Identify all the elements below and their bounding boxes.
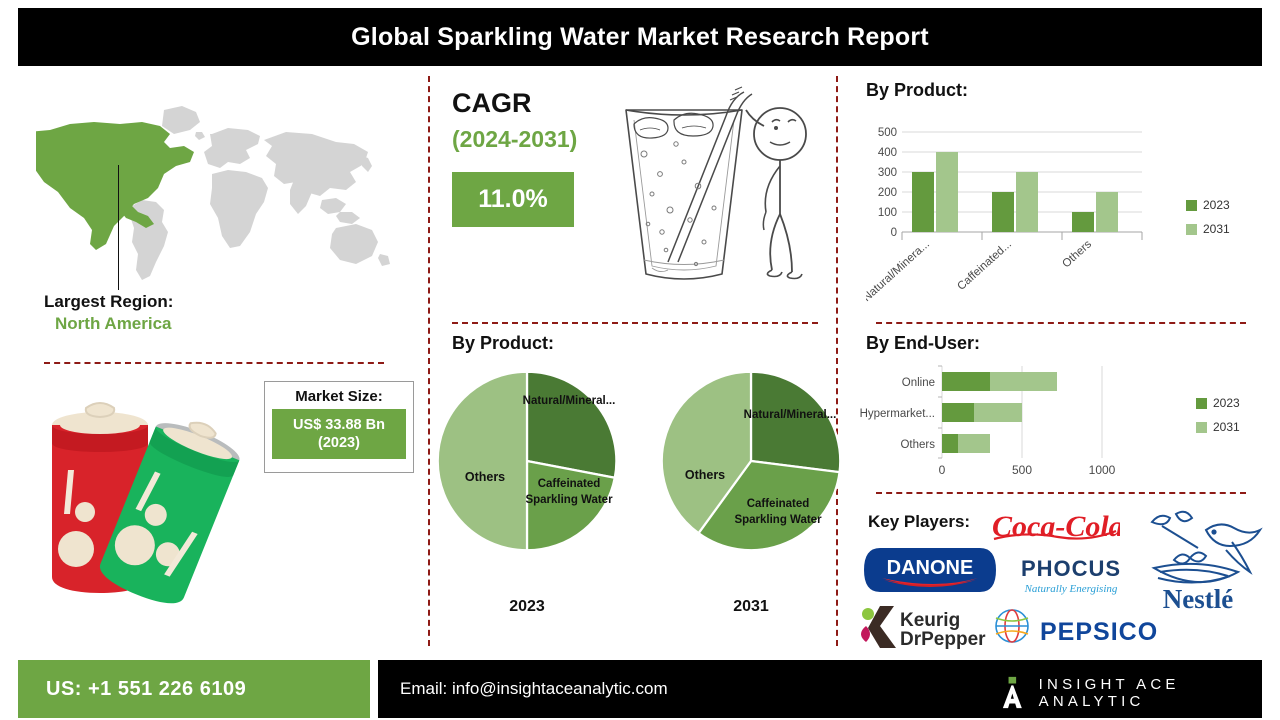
svg-text:400: 400: [878, 147, 897, 159]
logo-danone: DANONE: [864, 544, 996, 601]
pie-2023-label-caffeinated: Caffeinated Sparkling Water: [523, 477, 615, 508]
logo-nestle: Nestlé: [1128, 508, 1268, 619]
footer-phone-block: US: +1 551 226 6109: [18, 660, 370, 718]
divider-center-1: [452, 322, 818, 324]
legend-swatch-2031: [1186, 224, 1197, 235]
soda-cans-illustration: [28, 392, 258, 627]
center-by-product-title: By Product:: [452, 333, 554, 354]
footer-brand: INSIGHT ACE ANALYTIC: [1000, 676, 1280, 710]
logo-keurig-dr-pepper: Keurig DrPepper: [860, 604, 1000, 655]
svg-text:0: 0: [891, 227, 897, 239]
footer-email: Email: info@insightaceanalytic.com: [400, 679, 668, 699]
svg-text:Others: Others: [900, 439, 935, 451]
svg-text:500: 500: [878, 127, 897, 139]
by-end-user-title: By End-User:: [866, 333, 980, 354]
svg-text:Natural/Minera...: Natural/Minera...: [866, 238, 932, 304]
svg-text:Hypermarket...: Hypermarket...: [860, 408, 935, 420]
largest-region-label: Largest Region:: [44, 292, 173, 312]
pie-2023-label-others: Others: [452, 469, 518, 486]
logo-phocus-text: PHOCUS: [1021, 556, 1121, 581]
legend-label-2023-enduser: 2023: [1213, 396, 1240, 410]
market-size-box: Market Size: US$ 33.88 Bn (2023): [264, 381, 414, 473]
market-size-title: Market Size:: [295, 388, 383, 405]
logo-pepsico: PEPSICO: [990, 608, 1170, 657]
legend-label-2023: 2023: [1203, 198, 1230, 212]
logo-pepsico-text: PEPSICO: [1040, 618, 1158, 646]
pie-2023-year: 2023: [434, 598, 620, 616]
footer-phone: US: +1 551 226 6109: [46, 678, 246, 701]
by-end-user-legend: 2023 2031: [1196, 396, 1240, 444]
svg-text:500: 500: [1012, 463, 1032, 477]
svg-text:Others: Others: [1060, 238, 1094, 270]
pie-2031-year: 2031: [658, 598, 844, 616]
cagr-years: (2024-2031): [452, 126, 577, 153]
pie-2023-label-natural: Natural/Mineral...: [521, 394, 617, 410]
header-bar: Global Sparkling Water Market Research R…: [18, 8, 1262, 66]
footer-brand-text: INSIGHT ACE ANALYTIC: [1039, 676, 1280, 710]
key-players-logos: Coca-Cola DANONE: [860, 500, 1270, 650]
page-title: Global Sparkling Water Market Research R…: [351, 23, 929, 52]
legend-swatch-2023: [1186, 200, 1197, 211]
legend-swatch-2031-enduser: [1196, 422, 1207, 433]
legend-label-2031: 2031: [1203, 222, 1230, 236]
drinking-glass-illustration: [604, 82, 824, 292]
logo-danone-text: DANONE: [887, 557, 974, 579]
infographic-page: Global Sparkling Water Market Research R…: [0, 0, 1280, 720]
legend-swatch-2023-enduser: [1196, 398, 1207, 409]
cagr-label: CAGR: [452, 88, 532, 119]
market-size-value: US$ 33.88 Bn: [293, 416, 385, 434]
pie-2031-label-caffeinated: Caffeinated Sparkling Water: [732, 497, 824, 528]
divider-left-1: [44, 362, 384, 364]
by-product-legend: 2023 2031: [1186, 198, 1230, 246]
map-pointer-line: [118, 165, 119, 290]
logo-keurig-text: Keurig: [900, 610, 960, 631]
market-size-year: (2023): [318, 434, 360, 452]
svg-text:100: 100: [878, 207, 897, 219]
divider-right-2: [876, 492, 1246, 494]
right-by-product-title: By Product:: [866, 80, 968, 101]
cagr-value-pill: 11.0%: [452, 172, 574, 227]
brand-logo-icon: [1000, 676, 1025, 710]
svg-text:Caffeinated...: Caffeinated...: [955, 238, 1014, 293]
largest-region-value: North America: [55, 314, 172, 334]
logo-phocus: PHOCUS Naturally Energising: [1016, 552, 1126, 605]
logo-coca-cola: Coca-Cola: [990, 505, 1120, 552]
svg-text:Online: Online: [902, 377, 935, 389]
pie-2031-label-others: Others: [672, 467, 738, 484]
vertical-divider-right: [836, 76, 838, 646]
vertical-divider-left: [428, 76, 430, 646]
pie-2031-label-natural: Natural/Mineral...: [742, 408, 838, 424]
svg-text:200: 200: [878, 187, 897, 199]
by-product-bar-chart: 500 400 300 200 100 0 Natu: [866, 112, 1186, 312]
divider-right-1: [876, 322, 1246, 324]
market-size-pill: US$ 33.88 Bn (2023): [272, 409, 406, 459]
svg-text:1000: 1000: [1089, 463, 1116, 477]
svg-text:0: 0: [939, 463, 946, 477]
logo-drpepper-text: DrPepper: [900, 629, 986, 650]
legend-label-2031-enduser: 2031: [1213, 420, 1240, 434]
world-map: [36, 96, 396, 291]
svg-text:300: 300: [878, 167, 897, 179]
logo-coca-cola-text: Coca-Cola: [992, 510, 1120, 543]
by-end-user-bar-chart: Online Hypermarket... Others 0 500 1000: [852, 362, 1172, 490]
cagr-value: 11.0%: [478, 185, 548, 214]
logo-phocus-tagline: Naturally Energising: [1024, 583, 1118, 595]
logo-nestle-text: Nestlé: [1163, 584, 1233, 614]
